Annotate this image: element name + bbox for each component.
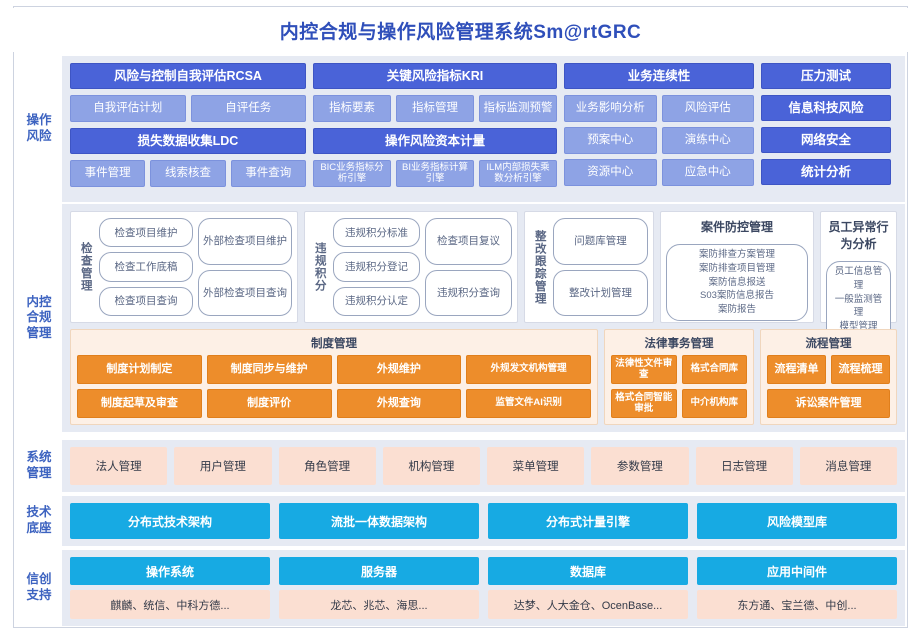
kri-sub-1[interactable]: 指标管理	[396, 95, 474, 122]
orc-sub-1[interactable]: BI业务指标计算引擎	[396, 160, 474, 187]
bcm-cell-3[interactable]: 演练中心	[662, 127, 755, 154]
bcm-cell-4[interactable]: 资源中心	[564, 159, 657, 186]
case-prevention-item-0: 案防排查方案管理	[699, 248, 775, 262]
system-item-5[interactable]: 参数管理	[591, 447, 688, 485]
policy-management-grid: 制度计划制定 制度同步与维护 外规维护 外规发文机构管理 制度起草及审查 制度评…	[77, 355, 591, 418]
policy-item-3[interactable]: 外规发文机构管理	[466, 355, 591, 384]
group-bcm: 业务连续性 业务影响分析 风险评估 预案中心 演练中心 资源中心 应急中心	[564, 63, 754, 195]
section-label-system-management: 系统 管理	[16, 440, 62, 492]
kri-sub-2[interactable]: 指标监测预警	[479, 95, 557, 122]
case-prevention-item-2: 案防信息报送	[708, 276, 765, 290]
kri-header[interactable]: 关键风险指标KRI	[313, 63, 557, 89]
violation-item-1[interactable]: 违规积分登记	[333, 252, 420, 281]
policy-management-title: 制度管理	[77, 335, 591, 351]
xinchuang-col-1: 服务器 龙芯、兆芯、海思...	[279, 557, 479, 619]
violation-review-item-0[interactable]: 检查项目复议	[425, 218, 512, 265]
inspection-col1: 检查项目维护 检查工作底稿 检查项目查询	[99, 218, 193, 316]
inspection-vertical-label: 检查管理	[76, 218, 94, 316]
architecture-diagram: 内控合规与操作风险管理系统Sm@rtGRC 操作 风险 风险与控制自我评估RCS…	[0, 0, 921, 640]
system-item-2[interactable]: 角色管理	[279, 447, 376, 485]
section-system-management: 系统 管理 法人管理 用户管理 角色管理 机构管理 菜单管理 参数管理 日志管理…	[16, 440, 905, 492]
legal-affairs-grid: 法律性文件审查 格式合同库 格式合同智能审批 中介机构库	[611, 355, 747, 418]
ic-label-line3: 管理	[26, 326, 51, 340]
card-case-prevention: 案件防控管理 案防排查方案管理 案防排查项目管理 案防信息报送 S03案防信息报…	[660, 211, 814, 323]
inspection-item-0[interactable]: 检查项目维护	[99, 218, 193, 247]
employee-behavior-item-0: 员工信息管理	[831, 265, 886, 293]
rectify-item-0[interactable]: 问题库管理	[553, 218, 648, 265]
legal-item-1[interactable]: 格式合同库	[682, 355, 748, 384]
system-item-6[interactable]: 日志管理	[696, 447, 793, 485]
section-label-operation-risk: 操作 风险	[16, 56, 62, 202]
rcsa-sub-row: 自我评估计划 自评任务	[70, 95, 306, 122]
tech-label-line1: 技术	[26, 505, 51, 519]
system-item-3[interactable]: 机构管理	[383, 447, 480, 485]
internal-control-top-row: 检查管理 检查项目维护 检查工作底稿 检查项目查询 外部检查项目维护 外部检查项…	[70, 211, 897, 323]
xinchuang-col-2: 数据库 达梦、人大金仓、OcenBase...	[488, 557, 688, 619]
process-item-1[interactable]: 流程梳理	[831, 355, 890, 384]
tech-item-2[interactable]: 分布式计量引擎	[488, 503, 688, 539]
inspection-ext-item-1[interactable]: 外部检查项目查询	[198, 270, 292, 317]
violation-vertical-label: 违规积分	[310, 218, 328, 316]
card-legal-affairs: 法律事务管理 法律性文件审查 格式合同库 格式合同智能审批 中介机构库	[604, 329, 754, 425]
op-label-line1: 操作	[26, 113, 51, 127]
case-prevention-item-4: 案防报告	[718, 303, 756, 317]
kri-sub-0[interactable]: 指标要素	[313, 95, 391, 122]
tech-base-body: 分布式技术架构 流批一体数据架构 分布式计量引擎 风险模型库	[62, 496, 905, 546]
bcm-cell-1[interactable]: 风险评估	[662, 95, 755, 122]
orc-header[interactable]: 操作风险资本计量	[313, 128, 557, 154]
xinchuang-head-3[interactable]: 应用中间件	[697, 557, 897, 585]
policy-item-0[interactable]: 制度计划制定	[77, 355, 202, 384]
policy-item-1[interactable]: 制度同步与维护	[207, 355, 332, 384]
card-violation-score: 违规积分 违规积分标准 违规积分登记 违规积分认定 检查项目复议 违规积分查询	[304, 211, 518, 323]
group-stress-test: 压力测试 信息科技风险 网络安全 统计分析	[761, 63, 891, 195]
ic-label-line1: 内控	[26, 295, 51, 309]
stress-cell-1[interactable]: 网络安全	[761, 127, 891, 153]
page-title: 内控合规与操作风险管理系统Sm@rtGRC	[13, 8, 908, 52]
violation-col2: 检查项目复议 违规积分查询	[425, 218, 512, 316]
policy-item-2[interactable]: 外规维护	[337, 355, 462, 384]
inspection-item-2[interactable]: 检查项目查询	[99, 287, 193, 316]
inspection-col2: 外部检查项目维护 外部检查项目查询	[198, 218, 292, 316]
bcm-header[interactable]: 业务连续性	[564, 63, 754, 89]
rcsa-sub-1[interactable]: 自评任务	[191, 95, 307, 122]
legal-item-3[interactable]: 中介机构库	[682, 389, 748, 418]
tech-item-0[interactable]: 分布式技术架构	[70, 503, 270, 539]
section-label-xinchuang: 信创 支持	[16, 550, 62, 626]
violation-review-item-1[interactable]: 违规积分查询	[425, 270, 512, 317]
xinchuang-body: 操作系统 麒麟、统信、中科方德... 服务器 龙芯、兆芯、海思... 数据库 达…	[62, 550, 905, 626]
ldc-sub-0[interactable]: 事件管理	[70, 160, 145, 187]
violation-item-0[interactable]: 违规积分标准	[333, 218, 420, 247]
section-tech-base: 技术 底座 分布式技术架构 流批一体数据架构 分布式计量引擎 风险模型库	[16, 496, 905, 546]
card-rectification-tracking: 整改跟踪管理 问题库管理 整改计划管理	[524, 211, 654, 323]
system-item-7[interactable]: 消息管理	[800, 447, 897, 485]
xinchuang-body-2: 达梦、人大金仓、OcenBase...	[488, 590, 688, 619]
internal-control-bottom-row: 制度管理 制度计划制定 制度同步与维护 外规维护 外规发文机构管理 制度起草及审…	[70, 329, 897, 425]
policy-item-5[interactable]: 制度评价	[207, 389, 332, 418]
xc-label-line2: 支持	[26, 588, 51, 602]
stress-cell-0[interactable]: 信息科技风险	[761, 95, 891, 121]
policy-item-4[interactable]: 制度起草及审查	[77, 389, 202, 418]
card-inspection-management: 检查管理 检查项目维护 检查工作底稿 检查项目查询 外部检查项目维护 外部检查项…	[70, 211, 298, 323]
process-item-wide[interactable]: 诉讼案件管理	[767, 389, 890, 418]
sys-label-line2: 管理	[26, 466, 51, 480]
section-label-tech-base: 技术 底座	[16, 496, 62, 546]
ldc-sub-1[interactable]: 线索核查	[150, 160, 225, 187]
xinchuang-head-1[interactable]: 服务器	[279, 557, 479, 585]
xinchuang-col-3: 应用中间件 东方通、宝兰德、中创...	[697, 557, 897, 619]
tech-label-line2: 底座	[26, 521, 51, 535]
inspection-ext-item-0[interactable]: 外部检查项目维护	[198, 218, 292, 265]
system-item-0[interactable]: 法人管理	[70, 447, 167, 485]
xinchuang-head-0[interactable]: 操作系统	[70, 557, 270, 585]
ldc-header[interactable]: 损失数据收集LDC	[70, 128, 306, 154]
xinchuang-body-3: 东方通、宝兰德、中创...	[697, 590, 897, 619]
bcm-grid: 业务影响分析 风险评估 预案中心 演练中心 资源中心 应急中心	[564, 95, 754, 186]
process-management-title: 流程管理	[767, 335, 890, 351]
system-item-4[interactable]: 菜单管理	[487, 447, 584, 485]
case-prevention-list[interactable]: 案防排查方案管理 案防排查项目管理 案防信息报送 S03案防信息报告 案防报告	[666, 244, 808, 321]
orc-sub-2[interactable]: ILM内部损失乘数分析引擎	[479, 160, 557, 187]
bcm-cell-0[interactable]: 业务影响分析	[564, 95, 657, 122]
process-item-0[interactable]: 流程清单	[767, 355, 826, 384]
ldc-sub-2[interactable]: 事件查询	[231, 160, 306, 187]
employee-behavior-title: 员工异常行为分析	[826, 218, 891, 252]
legal-affairs-title: 法律事务管理	[611, 335, 747, 351]
group-rcsa: 风险与控制自我评估RCSA 自我评估计划 自评任务 损失数据收集LDC 事件管理…	[70, 63, 306, 195]
internal-control-body: 检查管理 检查项目维护 检查工作底稿 检查项目查询 外部检查项目维护 外部检查项…	[62, 204, 905, 432]
xinchuang-body-0: 麒麟、统信、中科方德...	[70, 590, 270, 619]
rectify-col: 问题库管理 整改计划管理	[553, 218, 648, 316]
xinchuang-body-1: 龙芯、兆芯、海思...	[279, 590, 479, 619]
card-process-management: 流程管理 流程清单 流程梳理 诉讼案件管理	[760, 329, 897, 425]
op-label-line2: 风险	[26, 129, 51, 143]
legal-item-0[interactable]: 法律性文件审查	[611, 355, 677, 384]
bcm-cell-2[interactable]: 预案中心	[564, 127, 657, 154]
page-title-text: 内控合规与操作风险管理系统Sm@rtGRC	[280, 17, 642, 44]
kri-sub-row: 指标要素 指标管理 指标监测预警	[313, 95, 557, 122]
rcsa-sub-0[interactable]: 自我评估计划	[70, 95, 186, 122]
employee-behavior-item-1: 一般监测管理	[831, 293, 886, 321]
xinchuang-head-2[interactable]: 数据库	[488, 557, 688, 585]
rectify-item-1[interactable]: 整改计划管理	[553, 270, 648, 317]
policy-item-7[interactable]: 监管文件AI识别	[466, 389, 591, 418]
operation-risk-body: 风险与控制自我评估RCSA 自我评估计划 自评任务 损失数据收集LDC 事件管理…	[62, 56, 905, 202]
ldc-sub-row: 事件管理 线索核查 事件查询	[70, 160, 306, 187]
xinchuang-col-0: 操作系统 麒麟、统信、中科方德...	[70, 557, 270, 619]
section-label-internal-control: 内控 合规 管理	[16, 204, 62, 432]
case-prevention-item-3: S03案防信息报告	[700, 289, 774, 303]
violation-item-2[interactable]: 违规积分认定	[333, 287, 420, 316]
sys-label-line1: 系统	[26, 450, 51, 464]
ic-label-line2: 合规	[26, 310, 51, 324]
section-internal-control: 内控 合规 管理 检查管理 检查项目维护 检查工作底稿 检查项目查询 外部检查项…	[16, 204, 905, 432]
legal-item-2[interactable]: 格式合同智能审批	[611, 389, 677, 418]
orc-sub-0[interactable]: BIC业务指标分析引擎	[313, 160, 391, 187]
violation-col1: 违规积分标准 违规积分登记 违规积分认定	[333, 218, 420, 316]
case-prevention-item-1: 案防排查项目管理	[699, 262, 775, 276]
system-item-1[interactable]: 用户管理	[174, 447, 271, 485]
tech-item-1[interactable]: 流批一体数据架构	[279, 503, 479, 539]
system-management-body: 法人管理 用户管理 角色管理 机构管理 菜单管理 参数管理 日志管理 消息管理	[62, 440, 905, 492]
stress-cell-2[interactable]: 统计分析	[761, 159, 891, 185]
card-policy-management: 制度管理 制度计划制定 制度同步与维护 外规维护 外规发文机构管理 制度起草及审…	[70, 329, 598, 425]
process-management-grid: 流程清单 流程梳理 诉讼案件管理	[767, 355, 890, 418]
xc-label-line1: 信创	[26, 572, 51, 586]
rcsa-header[interactable]: 风险与控制自我评估RCSA	[70, 63, 306, 89]
card-employee-behavior: 员工异常行为分析 员工信息管理 一般监测管理 模型管理 标签体系管理 从业人员行…	[820, 211, 897, 323]
orc-sub-row: BIC业务指标分析引擎 BI业务指标计算引擎 ILM内部损失乘数分析引擎	[313, 160, 557, 187]
tech-item-3[interactable]: 风险模型库	[697, 503, 897, 539]
group-kri: 关键风险指标KRI 指标要素 指标管理 指标监测预警 操作风险资本计量 BIC业…	[313, 63, 557, 195]
stress-header[interactable]: 压力测试	[761, 63, 891, 89]
case-prevention-title: 案件防控管理	[666, 218, 808, 235]
bcm-cell-5[interactable]: 应急中心	[662, 159, 755, 186]
section-operation-risk: 操作 风险 风险与控制自我评估RCSA 自我评估计划 自评任务 损失数据收集LD…	[16, 56, 905, 202]
policy-item-6[interactable]: 外规查询	[337, 389, 462, 418]
inspection-item-1[interactable]: 检查工作底稿	[99, 252, 193, 281]
section-xinchuang-support: 信创 支持 操作系统 麒麟、统信、中科方德... 服务器 龙芯、兆芯、海思...…	[16, 550, 905, 626]
rectify-vertical-label: 整改跟踪管理	[530, 218, 548, 316]
